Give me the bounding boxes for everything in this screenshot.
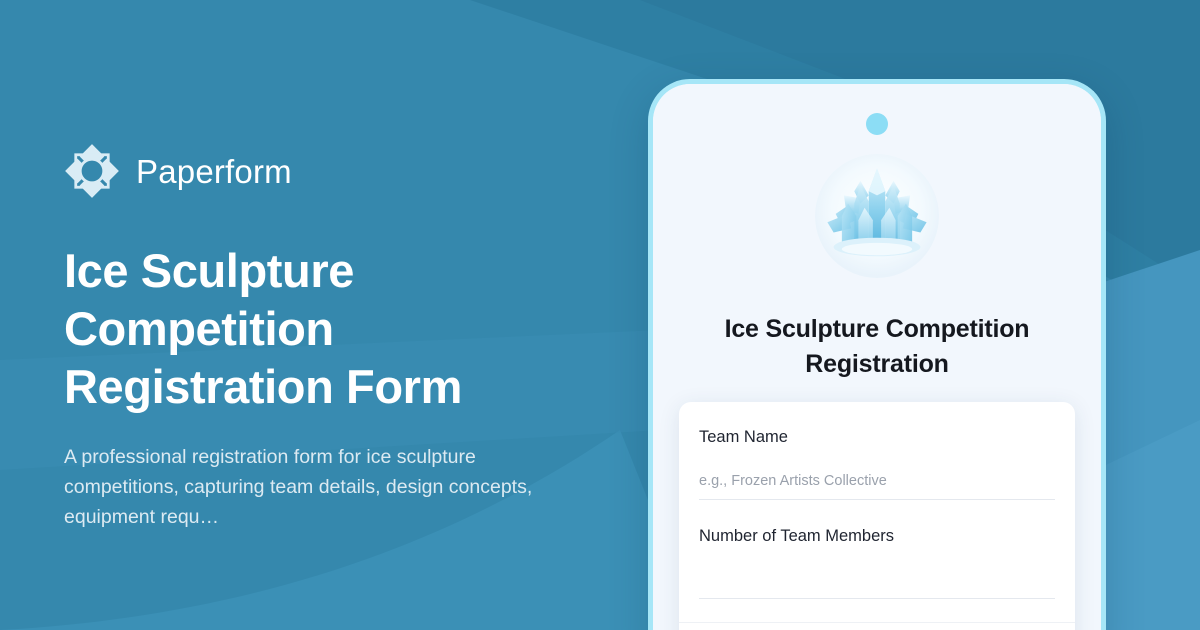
ice-crystal-illustration [815, 154, 939, 278]
page-description: A professional registration form for ice… [64, 442, 564, 532]
field-label-number-of-team-members: Number of Team Members [699, 525, 1055, 547]
phone-mockup: Ice Sculpture Competition Registration T… [648, 79, 1106, 630]
form-field-divider [679, 622, 1075, 623]
page-title: Ice Sculpture Competition Registration F… [64, 242, 534, 416]
team-name-input[interactable]: e.g., Frozen Artists Collective [699, 470, 1055, 500]
form-field-team-name: Team Name e.g., Frozen Artists Collectiv… [679, 402, 1075, 500]
form-title: Ice Sculpture Competition Registration [693, 312, 1061, 382]
number-of-team-members-input[interactable] [699, 569, 1055, 599]
paperform-logo-icon [64, 143, 120, 199]
brand-logo: Paperform [64, 140, 604, 202]
field-label-team-name: Team Name [699, 426, 1055, 448]
hero-section: Paperform Ice Sculpture Competition Regi… [64, 140, 604, 532]
phone-screen: Ice Sculpture Competition Registration T… [653, 84, 1101, 630]
brand-name: Paperform [136, 155, 292, 188]
form-card: Team Name e.g., Frozen Artists Collectiv… [679, 402, 1075, 630]
form-field-number-of-team-members: Number of Team Members [679, 501, 1075, 599]
camera-dot-icon [866, 113, 888, 135]
